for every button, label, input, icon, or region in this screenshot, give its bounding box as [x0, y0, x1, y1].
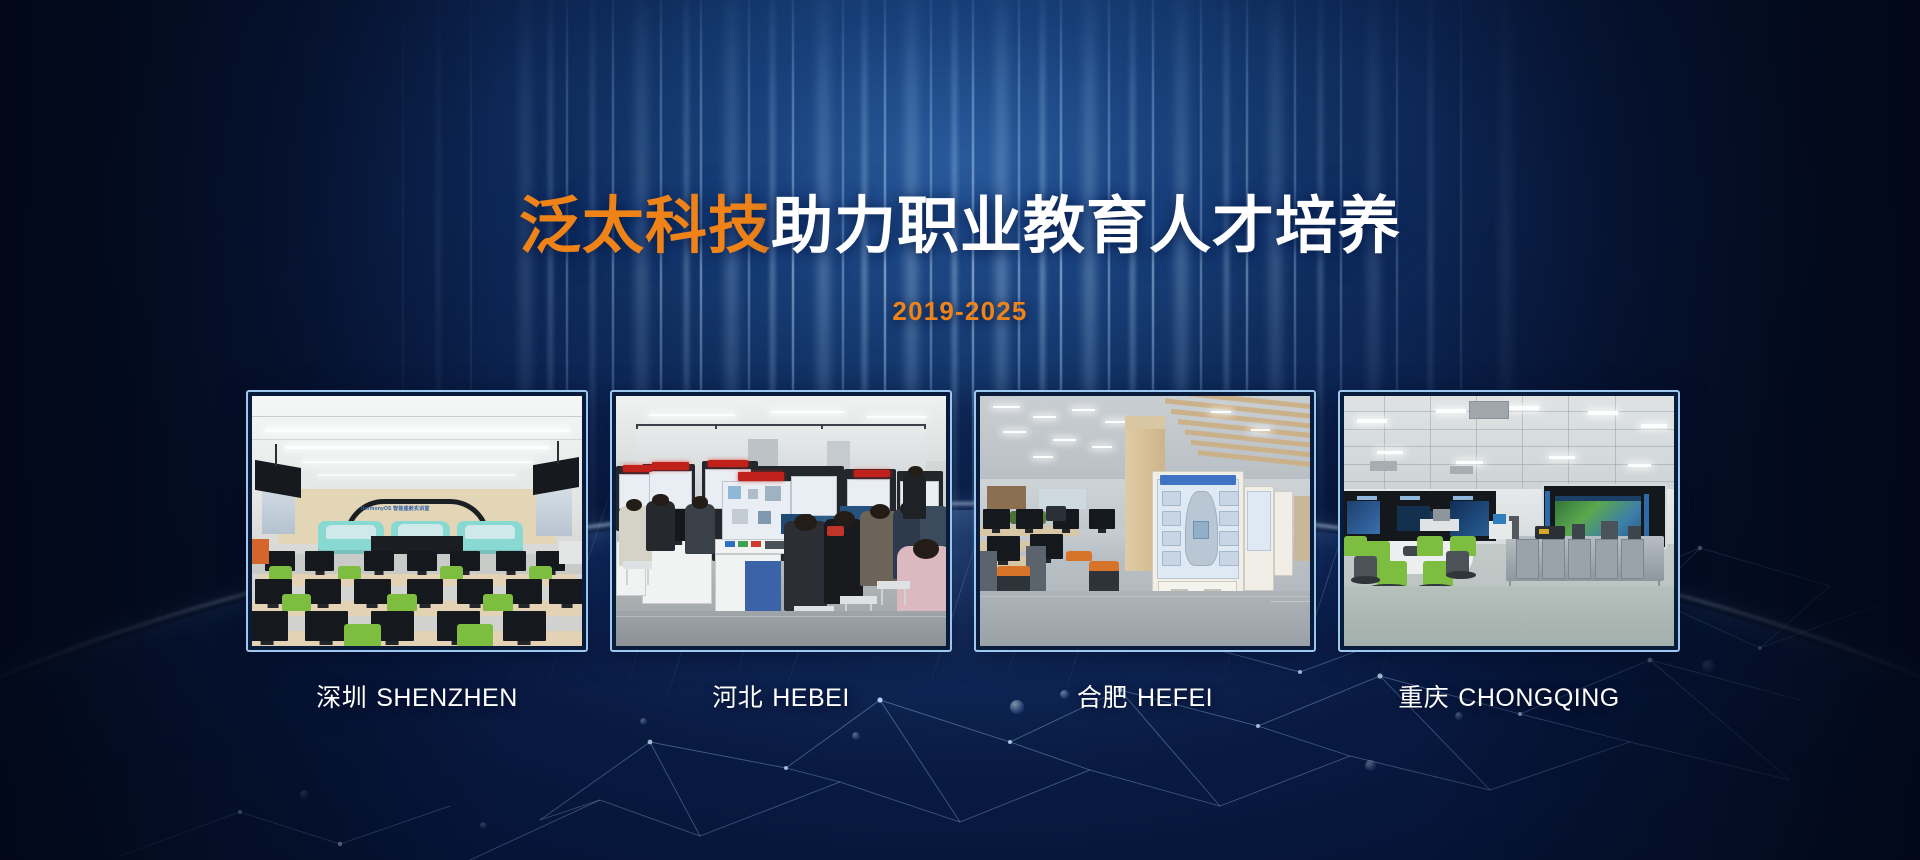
card-caption: 重庆CHONGQING [1338, 678, 1680, 714]
caption-cn: 深圳 [316, 684, 367, 712]
title-accent-text: 泛太科技 [519, 192, 771, 261]
banner-stage: 泛太科技助力职业教育人才培养 2019-2025 [0, 0, 1920, 860]
card-caption: 合肥HEFEI [974, 678, 1316, 714]
caption-en: CHONGQING [1458, 684, 1619, 712]
photo-frame[interactable] [974, 390, 1316, 652]
year-range-text: 2019-2025 [892, 296, 1027, 326]
caption-cn: 重庆 [1398, 684, 1449, 712]
year-range-label: 2019-2025 [0, 296, 1920, 327]
title-plain-text: 助力职业教育人才培养 [771, 192, 1401, 261]
location-card-list: HarmonyOS 智能座舱实训室 [246, 390, 1674, 714]
photo-hebei [616, 396, 946, 646]
location-card-chongqing[interactable]: 重庆CHONGQING [1338, 390, 1680, 714]
photo-frame[interactable] [1338, 390, 1680, 652]
location-card-hebei[interactable]: 河北HEBEI [610, 390, 952, 714]
photo-hefei [980, 396, 1310, 646]
location-card-shenzhen[interactable]: HarmonyOS 智能座舱实训室 [246, 390, 588, 714]
photo-frame[interactable] [610, 390, 952, 652]
location-card-hefei[interactable]: 合肥HEFEI [974, 390, 1316, 714]
card-caption: 深圳SHENZHEN [246, 678, 588, 714]
caption-en: SHENZHEN [376, 684, 518, 712]
caption-en: HEBEI [772, 684, 850, 712]
photo-shenzhen: HarmonyOS 智能座舱实训室 [252, 396, 582, 646]
page-title: 泛太科技助力职业教育人才培养 [0, 196, 1920, 258]
caption-cn: 合肥 [1077, 684, 1128, 712]
photo-chongqing [1344, 396, 1674, 646]
caption-en: HEFEI [1137, 684, 1213, 712]
card-caption: 河北HEBEI [610, 678, 952, 714]
caption-cn: 河北 [712, 684, 763, 712]
photo-frame[interactable]: HarmonyOS 智能座舱实训室 [246, 390, 588, 652]
